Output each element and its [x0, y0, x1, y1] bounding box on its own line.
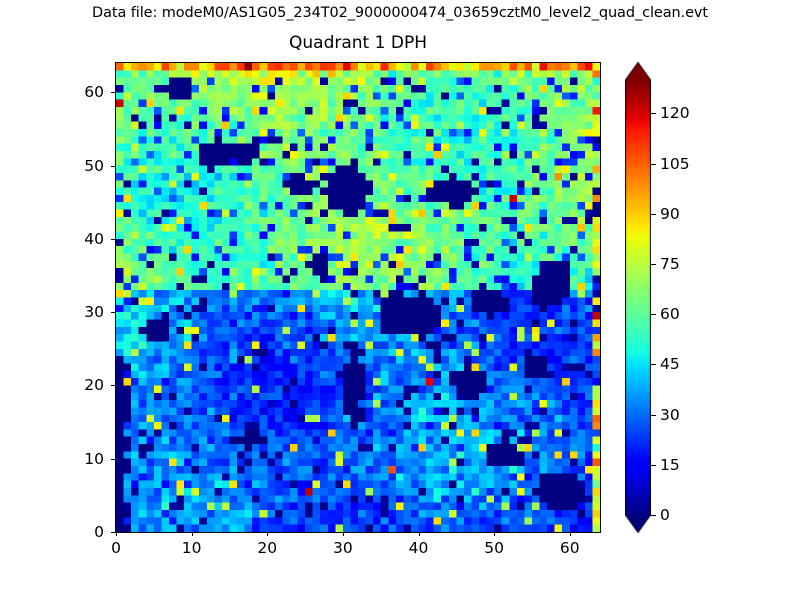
colorbar-tick — [651, 314, 656, 315]
colorbar-tick-label: 45 — [660, 355, 680, 373]
x-axis-tick — [267, 532, 268, 536]
x-axis-tick-label: 0 — [94, 539, 138, 557]
colorbar-tick-label: 120 — [660, 104, 690, 122]
x-axis-tick-label: 30 — [321, 539, 365, 557]
x-axis-tick-label: 60 — [548, 539, 592, 557]
x-axis-tick — [116, 532, 117, 536]
x-axis-tick-label: 50 — [472, 539, 516, 557]
colorbar-tick-label: 15 — [660, 456, 680, 474]
colorbar-tick — [651, 465, 656, 466]
colorbar-tick-label: 75 — [660, 255, 680, 273]
data-file-suptitle: Data file: modeM0/AS1G05_234T02_90000004… — [0, 5, 800, 21]
y-axis-tick-label: 0 — [60, 523, 104, 541]
colorbar-gradient[interactable] — [625, 62, 651, 533]
colorbar-tick-label: 105 — [660, 155, 690, 173]
y-axis-tick-label: 60 — [60, 83, 104, 101]
colorbar-tick — [651, 214, 656, 215]
colorbar-tick-label: 90 — [660, 205, 680, 223]
colorbar-tick — [651, 264, 656, 265]
x-axis-tick — [570, 532, 571, 536]
y-axis-tick — [111, 385, 115, 386]
y-axis-tick — [111, 239, 115, 240]
y-axis-tick — [111, 312, 115, 313]
y-axis-tick-label: 50 — [60, 157, 104, 175]
colorbar-tick — [651, 164, 656, 165]
x-axis-tick-label: 10 — [170, 539, 214, 557]
y-axis-tick-label: 40 — [60, 230, 104, 248]
heatmap-axes[interactable] — [115, 62, 601, 533]
x-axis-tick — [343, 532, 344, 536]
y-axis-tick-label: 20 — [60, 376, 104, 394]
x-axis-tick — [494, 532, 495, 536]
x-axis-tick — [419, 532, 420, 536]
colorbar-tick-label: 60 — [660, 305, 680, 323]
colorbar-tick-label: 30 — [660, 406, 680, 424]
colorbar-tick — [651, 515, 656, 516]
y-axis-tick — [111, 92, 115, 93]
x-axis-tick-label: 40 — [397, 539, 441, 557]
y-axis-tick-label: 30 — [60, 303, 104, 321]
colorbar-tick — [651, 415, 656, 416]
colorbar-tick — [651, 113, 656, 114]
y-axis-tick — [111, 459, 115, 460]
heatmap-image[interactable] — [116, 63, 600, 532]
y-axis-tick-label: 10 — [60, 450, 104, 468]
figure-canvas: Data file: modeM0/AS1G05_234T02_90000004… — [0, 0, 800, 600]
colorbar-tick-label: 0 — [660, 506, 670, 524]
y-axis-tick — [111, 166, 115, 167]
page-title: Quadrant 1 DPH — [115, 33, 601, 53]
x-axis-tick — [192, 532, 193, 536]
y-axis-tick — [111, 532, 115, 533]
colorbar-tick — [651, 364, 656, 365]
colorbar[interactable] — [625, 62, 651, 533]
x-axis-tick-label: 20 — [245, 539, 289, 557]
